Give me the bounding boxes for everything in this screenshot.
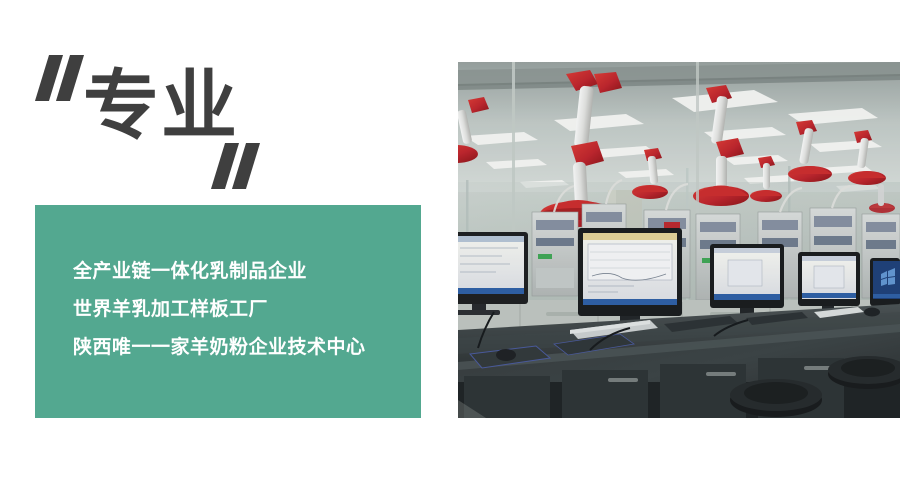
page-title: 专业 bbox=[83, 69, 239, 145]
close-quote-icon bbox=[218, 143, 253, 189]
open-quote-icon bbox=[42, 55, 77, 101]
left-promo-panel: 专业 全产业链一体化乳制品企业 世界羊乳加工样板工厂 陕西唯一一家羊奶粉企业技术… bbox=[0, 0, 440, 500]
highlight-item: 全产业链一体化乳制品企业 bbox=[73, 253, 407, 291]
promo-banner: 专业 全产业链一体化乳制品企业 世界羊乳加工样板工厂 陕西唯一一家羊奶粉企业技术… bbox=[0, 0, 900, 500]
highlight-item: 陕西唯一一家羊奶粉企业技术中心 bbox=[73, 329, 407, 367]
laboratory-photo-illustration bbox=[458, 62, 900, 418]
laboratory-photo bbox=[458, 62, 900, 418]
highlights-list: 全产业链一体化乳制品企业 世界羊乳加工样板工厂 陕西唯一一家羊奶粉企业技术中心 bbox=[73, 253, 407, 367]
highlight-item: 世界羊乳加工样板工厂 bbox=[73, 291, 407, 329]
highlights-card: 全产业链一体化乳制品企业 世界羊乳加工样板工厂 陕西唯一一家羊奶粉企业技术中心 bbox=[35, 205, 421, 418]
headline-block: 专业 bbox=[35, 55, 335, 205]
